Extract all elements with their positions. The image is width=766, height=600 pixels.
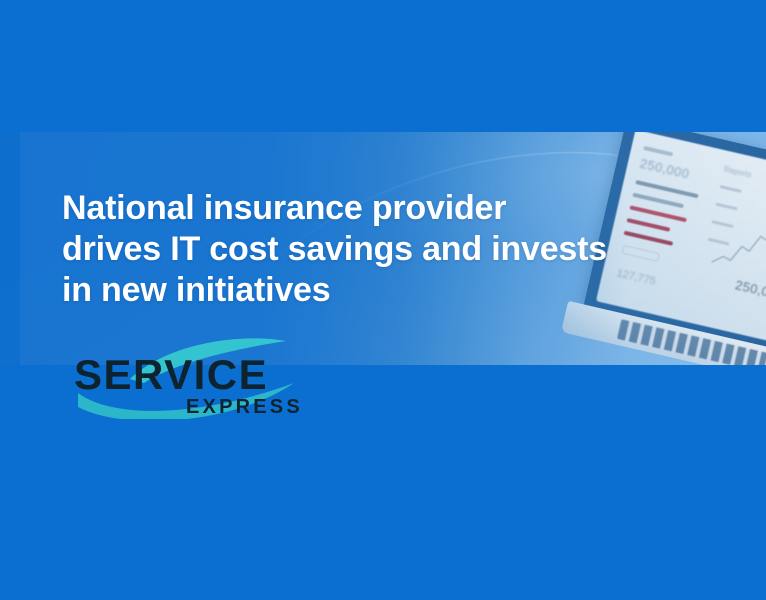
logo-primary-text: SERVICE (74, 351, 268, 398)
case-study-banner: 250,000 Reports (0, 0, 766, 600)
logo-secondary-text: EXPRESS (186, 396, 303, 418)
service-express-logo: SERVICE EXPRESS (72, 337, 304, 419)
page-title: National insurance provider drives IT co… (62, 188, 722, 311)
